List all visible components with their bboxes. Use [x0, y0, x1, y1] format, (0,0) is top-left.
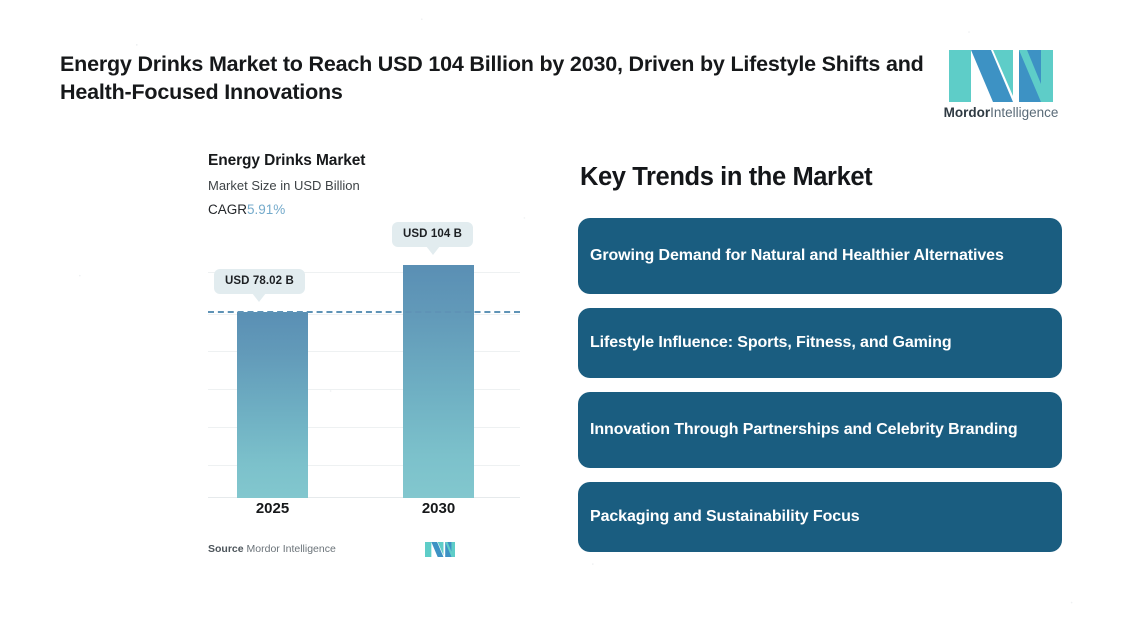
trends-panel: Key Trends in the Market Growing Demand … [578, 163, 1062, 566]
header: Energy Drinks Market to Reach USD 104 Bi… [60, 50, 1080, 122]
bar-2025[interactable] [237, 312, 308, 498]
data-label-2025: USD 78.02 B [214, 269, 305, 294]
chart-title: Energy Drinks Market [208, 152, 520, 170]
page-title: Energy Drinks Market to Reach USD 104 Bi… [60, 50, 940, 106]
source-name: Mordor Intelligence [247, 543, 336, 555]
bar-2030[interactable] [403, 265, 474, 498]
trend-card-4[interactable]: Packaging and Sustainability Focus [578, 482, 1062, 552]
trend-card-text: Packaging and Sustainability Focus [590, 506, 860, 528]
x-label-2030: 2030 [403, 500, 474, 517]
trend-card-text: Lifestyle Influence: Sports, Fitness, an… [590, 332, 952, 354]
mordor-intelligence-mark-icon [425, 541, 455, 558]
reference-line [208, 311, 520, 313]
brand-logo: MordorIntelligence [942, 50, 1060, 120]
trends-heading: Key Trends in the Market [580, 163, 1062, 192]
source-row: Source Mordor Intelligence [208, 541, 520, 561]
trend-card-1[interactable]: Growing Demand for Natural and Healthier… [578, 218, 1062, 294]
data-label-2030: USD 104 B [392, 222, 473, 247]
x-axis-labels: 2025 2030 [208, 500, 520, 524]
chart-plot-area: USD 78.02 B USD 104 B [208, 236, 520, 498]
trend-card-2[interactable]: Lifestyle Influence: Sports, Fitness, an… [578, 308, 1062, 378]
source-text: Source Mordor Intelligence [208, 543, 336, 555]
chart-cagr: CAGR5.91% [208, 202, 520, 217]
x-label-2025: 2025 [237, 500, 308, 517]
trend-card-3[interactable]: Innovation Through Partnerships and Cele… [578, 392, 1062, 468]
chart-panel: Energy Drinks Market Market Size in USD … [208, 152, 520, 562]
chart-subtitle: Market Size in USD Billion [208, 178, 520, 193]
cagr-label: CAGR [208, 202, 247, 217]
brand-word-mordor: Mordor [944, 105, 991, 120]
brand-wordmark: MordorIntelligence [942, 105, 1060, 120]
trend-card-text: Innovation Through Partnerships and Cele… [590, 419, 1018, 441]
source-label: Source [208, 543, 244, 555]
trend-card-text: Growing Demand for Natural and Healthier… [590, 245, 1004, 267]
cagr-value: 5.91% [247, 202, 285, 217]
mordor-intelligence-logo-icon [949, 50, 1053, 102]
brand-word-intelligence: Intelligence [990, 105, 1058, 120]
